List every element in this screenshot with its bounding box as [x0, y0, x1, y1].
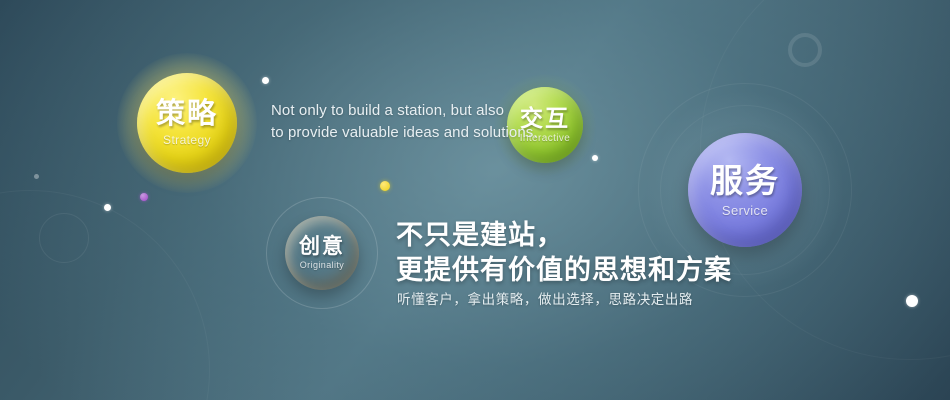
decorative-ring-top-right — [788, 33, 822, 67]
tagline-english-line2: to provide valuable ideas and solutions. — [271, 122, 511, 144]
decorative-dot-white-mid — [592, 155, 598, 161]
decorative-dot-white-left — [104, 204, 111, 211]
hero-banner: 策略 Strategy 交互 Interactive 创意 Originalit… — [0, 0, 950, 400]
tagline-english-line1: Not only to build a station, but also — [271, 100, 511, 122]
decorative-dot-white-right — [906, 295, 918, 307]
decorative-dot-faint-left — [34, 174, 39, 179]
subtitle: 听懂客户，拿出策略，做出选择，思路决定出路 — [397, 288, 693, 308]
decorative-dot-purple — [140, 193, 148, 201]
headline-line2: 更提供有价值的思想和方案 — [396, 253, 732, 288]
sphere-originality[interactable]: 创意 Originality — [285, 216, 359, 290]
headline-line1: 不只是建站， — [396, 218, 732, 253]
sphere-strategy-label-en: Strategy — [163, 134, 211, 146]
decorative-ring-left — [39, 213, 89, 263]
sphere-service-label-en: Service — [722, 204, 768, 217]
sphere-strategy[interactable]: 策略 Strategy — [137, 73, 237, 173]
sphere-originality-label-en: Originality — [300, 261, 344, 270]
sphere-strategy-label-cn: 策略 — [156, 100, 218, 129]
tagline-english: Not only to build a station, but also to… — [271, 100, 511, 144]
headline: 不只是建站， 更提供有价值的思想和方案 — [396, 218, 732, 288]
decorative-dot-yellow — [380, 181, 390, 191]
decorative-dot-white-upper — [262, 77, 269, 84]
sphere-originality-label-cn: 创意 — [299, 236, 345, 257]
sphere-service-label-cn: 服务 — [710, 164, 780, 197]
decorative-ring-large-left — [0, 190, 210, 400]
